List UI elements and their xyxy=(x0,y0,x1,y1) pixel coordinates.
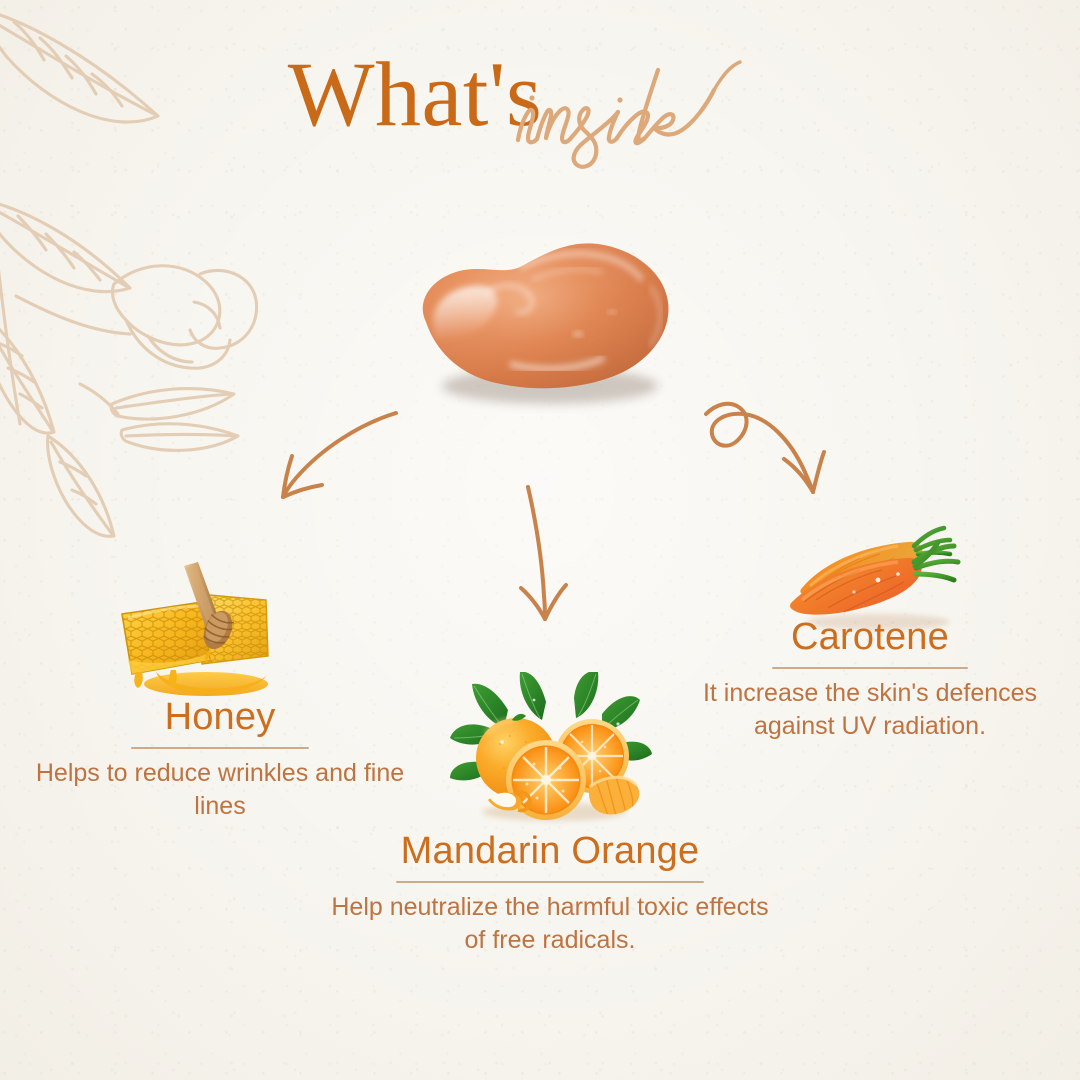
divider-honey xyxy=(131,747,309,749)
ingredient-name-carotene: Carotene xyxy=(660,618,1080,658)
ingredient-name-mandarin-orange: Mandarin Orange xyxy=(330,832,770,872)
ingredient-block-mandarin-orange: Mandarin Orange Help neutralize the harm… xyxy=(330,832,770,957)
infographic-poster: What's inside xyxy=(0,0,1080,1080)
arrow-to-mandarin-orange xyxy=(521,487,566,619)
ingredient-block-carotene: Carotene It increase the skin's defences… xyxy=(660,618,1080,743)
honeycomb-illustration xyxy=(98,552,296,700)
ingredient-description-mandarin-orange: Help neutralize the harmful toxic effect… xyxy=(330,891,770,957)
ingredient-description-carotene: It increase the skin's defences against … xyxy=(660,677,1080,743)
cream-swatch-illustration xyxy=(382,214,692,414)
title-primary: What's xyxy=(288,48,543,140)
divider-carotene xyxy=(772,667,968,669)
ingredient-name-honey: Honey xyxy=(10,698,430,738)
title-script-inside: inside xyxy=(508,54,758,174)
arrow-to-honey xyxy=(283,413,396,497)
ingredient-block-honey: Honey Helps to reduce wrinkles and fine … xyxy=(10,698,430,823)
ingredient-description-honey: Helps to reduce wrinkles and fine lines xyxy=(10,757,430,823)
divider-mandarin-orange xyxy=(396,881,704,883)
page-title: What's inside xyxy=(0,44,1080,174)
oranges-illustration xyxy=(442,672,662,832)
arrow-to-carotene xyxy=(706,404,824,492)
